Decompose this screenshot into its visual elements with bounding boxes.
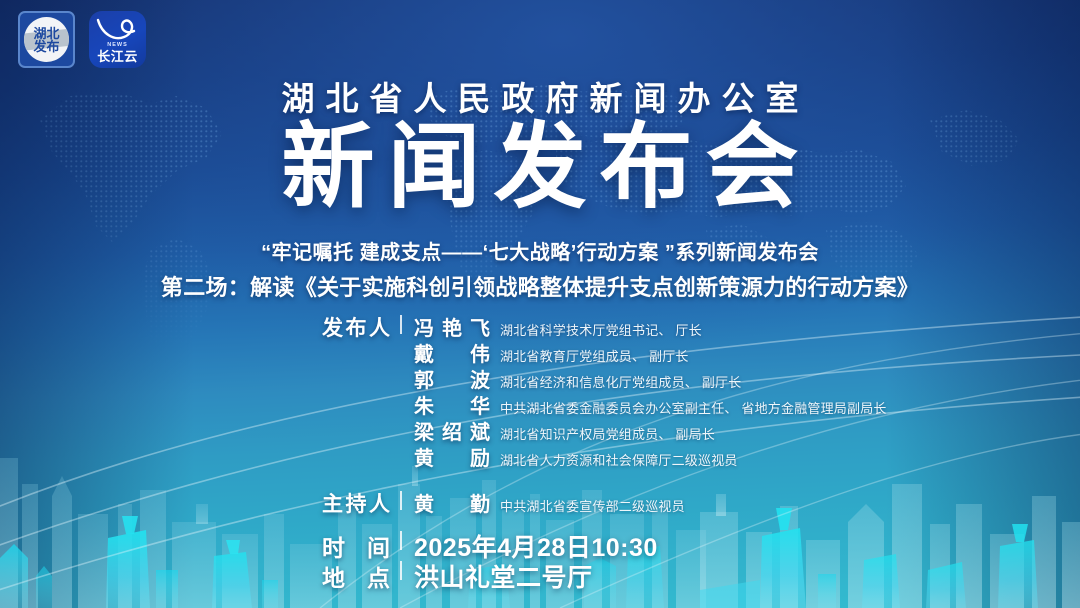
speaker-name: 梁绍斌 [414,416,490,445]
changjiangyun-news-label: NEWS [89,42,146,48]
hubei-fabu-line1: 湖北 [33,27,59,40]
place-value: 洪山礼堂二号厅 [414,558,593,594]
swoosh-icon [96,17,139,43]
hubei-fabu-text: 湖北 发布 [33,27,59,53]
speaker-name: 冯艳飞 [414,312,490,341]
place-label: 地点 [0,559,400,593]
info-block: 发布人 冯艳飞 湖北省科学技术厅党组书记、 厅长 发布人 戴伟 湖北省教育厅党组… [0,312,1080,584]
subtitle-session: 第二场：解读《关于实施科创引领战略整体提升支点创新策源力的行动方案》 [0,270,1080,302]
speaker-row: 发布人 黄励 湖北省人力资源和社会保障厅二级巡视员 [0,442,1080,466]
speaker-title: 湖北省科学技术厅党组书记、 厅长 [490,320,702,339]
speaker-row: 发布人 郭波 湖北省经济和信息化厅党组成员、 副厅长 [0,364,1080,388]
divider-bar [400,491,402,510]
hubei-fabu-line2: 发布 [33,40,59,53]
speaker-title: 中共湖北省委金融委员会办公室副主任、 省地方金融管理局副局长 [490,398,887,417]
place-row: 地点 洪山礼堂二号厅 [0,558,1080,582]
divider-bar [400,561,402,580]
logo-bar: 湖北 发布 NEWS 长江云 [18,11,146,68]
speaker-title: 湖北省教育厅党组成员、 副厅长 [490,346,689,365]
divider-bar [400,531,402,550]
changjiangyun-logo[interactable]: NEWS 长江云 [89,11,146,68]
host-title: 中共湖北省委宣传部二级巡视员 [490,496,685,515]
speaker-name: 戴伟 [414,338,490,367]
news-conference-poster: 湖北 发布 NEWS 长江云 湖北省人民政府新闻办公室 新闻发布会 “牢记嘱托 … [0,0,1080,608]
speaker-name: 黄励 [414,442,490,471]
time-row: 时间 2025年4月28日10:30 [0,528,1080,552]
speaker-row: 发布人 冯艳飞 湖北省科学技术厅党组书记、 厅长 [0,312,1080,336]
host-label: 主持人 [0,488,400,518]
subtitle-series: “牢记嘱托 建成支点——‘七大战略’行动方案 ”系列新闻发布会 [0,236,1080,265]
speaker-row: 发布人 朱华 中共湖北省委金融委员会办公室副主任、 省地方金融管理局副局长 [0,390,1080,414]
changjiangyun-label: 长江云 [89,50,146,64]
poster-content: 湖北省人民政府新闻办公室 新闻发布会 “牢记嘱托 建成支点——‘七大战略’行动方… [0,0,1080,608]
main-title: 新闻发布会 [0,115,1080,219]
hubei-fabu-disc: 湖北 发布 [24,17,69,62]
speaker-name: 郭波 [414,364,490,393]
host-name: 黄勤 [414,488,490,517]
speaker-name: 朱华 [414,390,490,419]
hubei-fabu-logo[interactable]: 湖北 发布 [18,11,75,68]
divider-bar [400,315,402,334]
time-label: 时间 [0,529,400,563]
speaker-title: 湖北省人力资源和社会保障厅二级巡视员 [490,450,738,469]
speaker-row: 发布人 梁绍斌 湖北省知识产权局党组成员、 副局长 [0,416,1080,440]
speakers-label: 发布人 [0,312,400,342]
speaker-title: 湖北省经济和信息化厅党组成员、 副厅长 [490,372,741,391]
host-row: 主持人 黄勤 中共湖北省委宣传部二级巡视员 [0,488,1080,512]
speaker-title: 湖北省知识产权局党组成员、 副局长 [490,424,715,443]
